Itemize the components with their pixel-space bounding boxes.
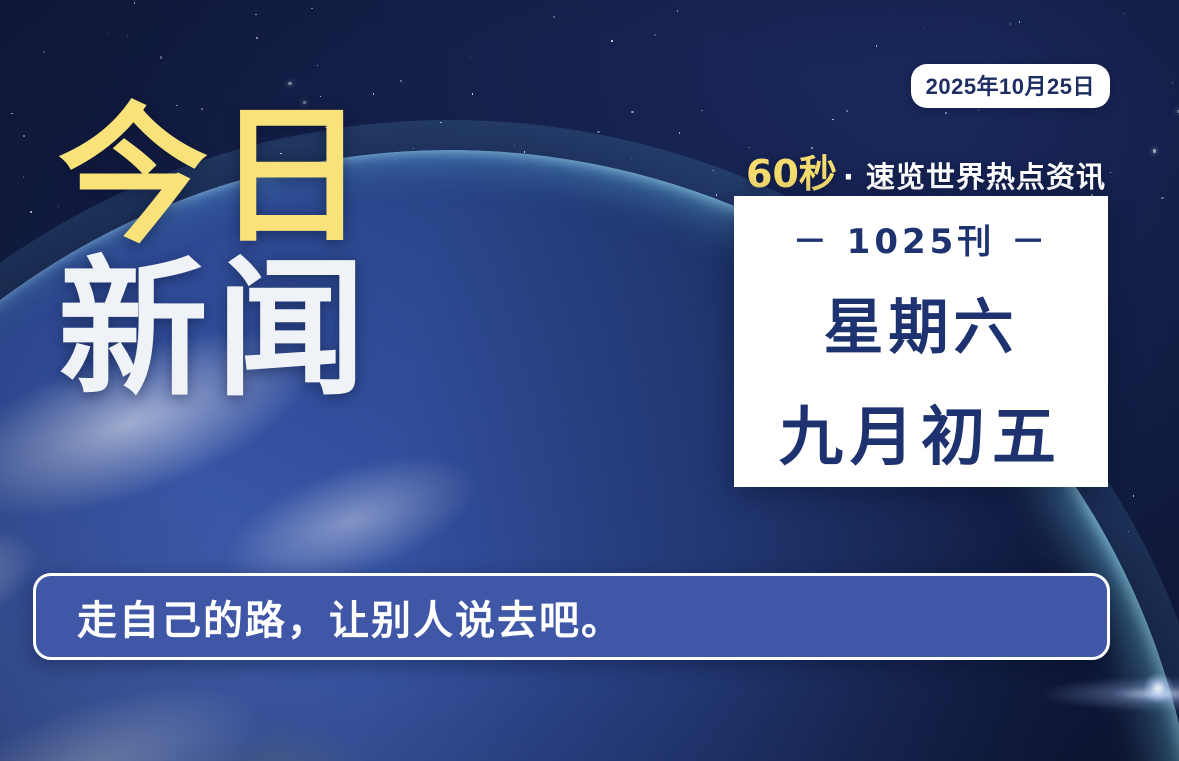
title-line-news: 新闻 [58, 257, 374, 404]
tagline: 60秒 · 速览世界热点资讯 [746, 143, 1106, 198]
date-info-card: － 1025刊 － 星期六 九月初五 [734, 196, 1108, 487]
page-title: 今日 新闻 [58, 104, 374, 404]
issue-number: － 1025刊 － [793, 214, 1049, 263]
tagline-description: · 速览世界热点资讯 [843, 154, 1106, 196]
quote-text: 走自己的路，让别人说去吧。 [36, 588, 623, 646]
lunar-date-label: 九月初五 [779, 386, 1063, 478]
news-poster: 今日 新闻 2025年10月25日 60秒 · 速览世界热点资讯 － 1025刊… [0, 0, 1179, 761]
title-line-today: 今日 [58, 104, 374, 251]
date-badge: 2025年10月25日 [911, 64, 1110, 108]
quote-bar: 走自己的路，让别人说去吧。 [33, 573, 1110, 660]
tagline-seconds: 60秒 [746, 143, 837, 198]
bright-star-icon [1143, 673, 1173, 703]
weekday-label: 星期六 [824, 279, 1019, 366]
